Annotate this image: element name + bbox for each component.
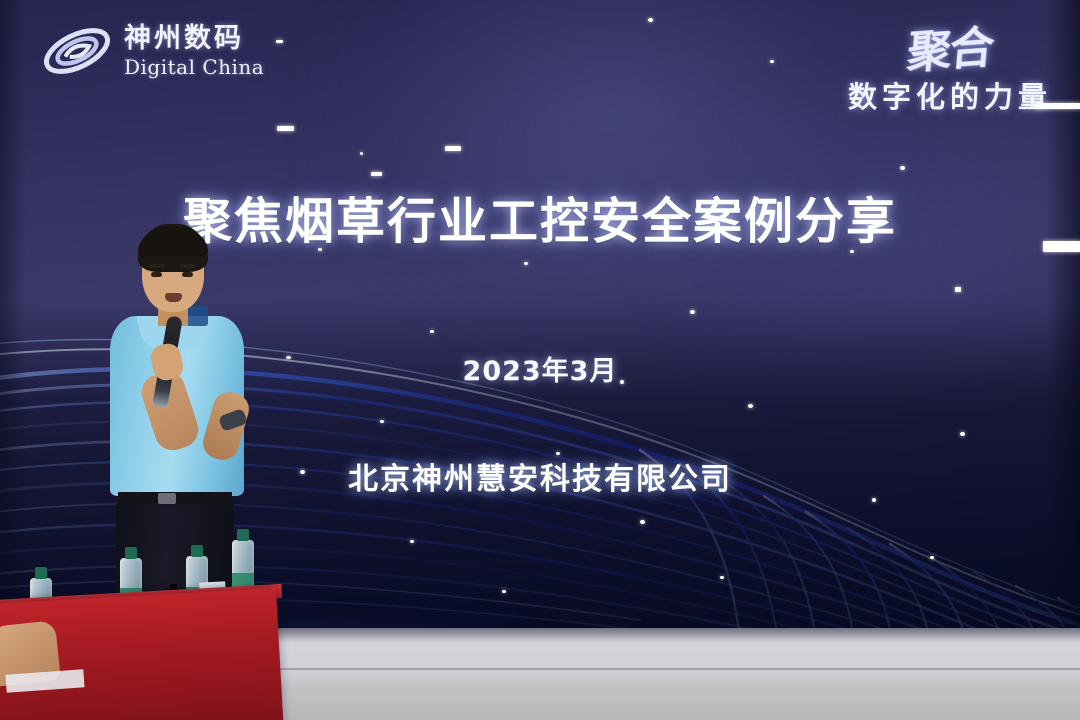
screen-particle xyxy=(502,590,506,593)
screen-particle xyxy=(690,310,695,314)
screen-particle xyxy=(430,330,434,333)
bottle-cap xyxy=(237,529,249,541)
digital-china-cn: 神州数码 xyxy=(124,25,264,52)
screen-particle xyxy=(524,262,528,265)
bottle-cap xyxy=(125,547,137,559)
bottle-cap xyxy=(35,567,47,579)
screen-particle xyxy=(850,250,854,253)
screen-particle xyxy=(770,60,774,63)
digital-china-logo: 神州数码 Digital China xyxy=(40,22,264,80)
screen-particle xyxy=(620,380,624,384)
screen-particle xyxy=(930,556,934,559)
speaker-mouth xyxy=(165,293,182,302)
bottle-cap xyxy=(191,545,203,557)
screen-particle xyxy=(371,172,382,176)
screen-left-shade xyxy=(0,0,26,632)
screen-particle xyxy=(960,432,965,436)
event-logo-tagline: 数字化的力量 xyxy=(848,74,1052,116)
screen-particle xyxy=(380,420,384,423)
screen-particle xyxy=(648,18,653,22)
screen-particle xyxy=(410,540,414,543)
speaker-eye-right xyxy=(182,272,193,277)
digital-china-en: Digital China xyxy=(124,57,264,77)
speaker-belt-buckle xyxy=(158,493,176,504)
screen-particle xyxy=(286,356,291,359)
screen-particle xyxy=(720,576,724,579)
digital-china-swirl-icon xyxy=(40,22,114,80)
screenshot-root: 神州数码 Digital China 聚合 数字化的力量 聚焦烟草行业工控安全案… xyxy=(0,0,1080,720)
screen-particle xyxy=(318,248,322,251)
digital-china-wordmark: 神州数码 Digital China xyxy=(124,25,264,77)
speaker-hair-front xyxy=(138,226,208,256)
screen-particle xyxy=(1035,103,1080,109)
screen-particle xyxy=(872,498,876,502)
speaker-eye-left xyxy=(151,272,162,277)
screen-particle xyxy=(900,166,905,170)
screen-particle xyxy=(276,40,283,43)
screen-particle xyxy=(748,404,753,408)
screen-particle xyxy=(955,287,961,292)
screen-particle xyxy=(300,470,305,474)
screen-particle xyxy=(556,452,560,455)
speaker-brow-left xyxy=(149,264,165,268)
screen-particle xyxy=(640,520,645,524)
event-logo-calligraphy: 聚合 xyxy=(905,11,995,81)
screen-particle xyxy=(277,126,294,131)
speaker-brow-right xyxy=(180,264,196,268)
screen-particle xyxy=(360,152,363,155)
screen-particle xyxy=(445,146,461,151)
event-logo: 聚合 数字化的力量 xyxy=(848,14,1052,116)
screen-particle xyxy=(1043,241,1080,252)
speaker-chest-badge-icon xyxy=(186,306,208,326)
